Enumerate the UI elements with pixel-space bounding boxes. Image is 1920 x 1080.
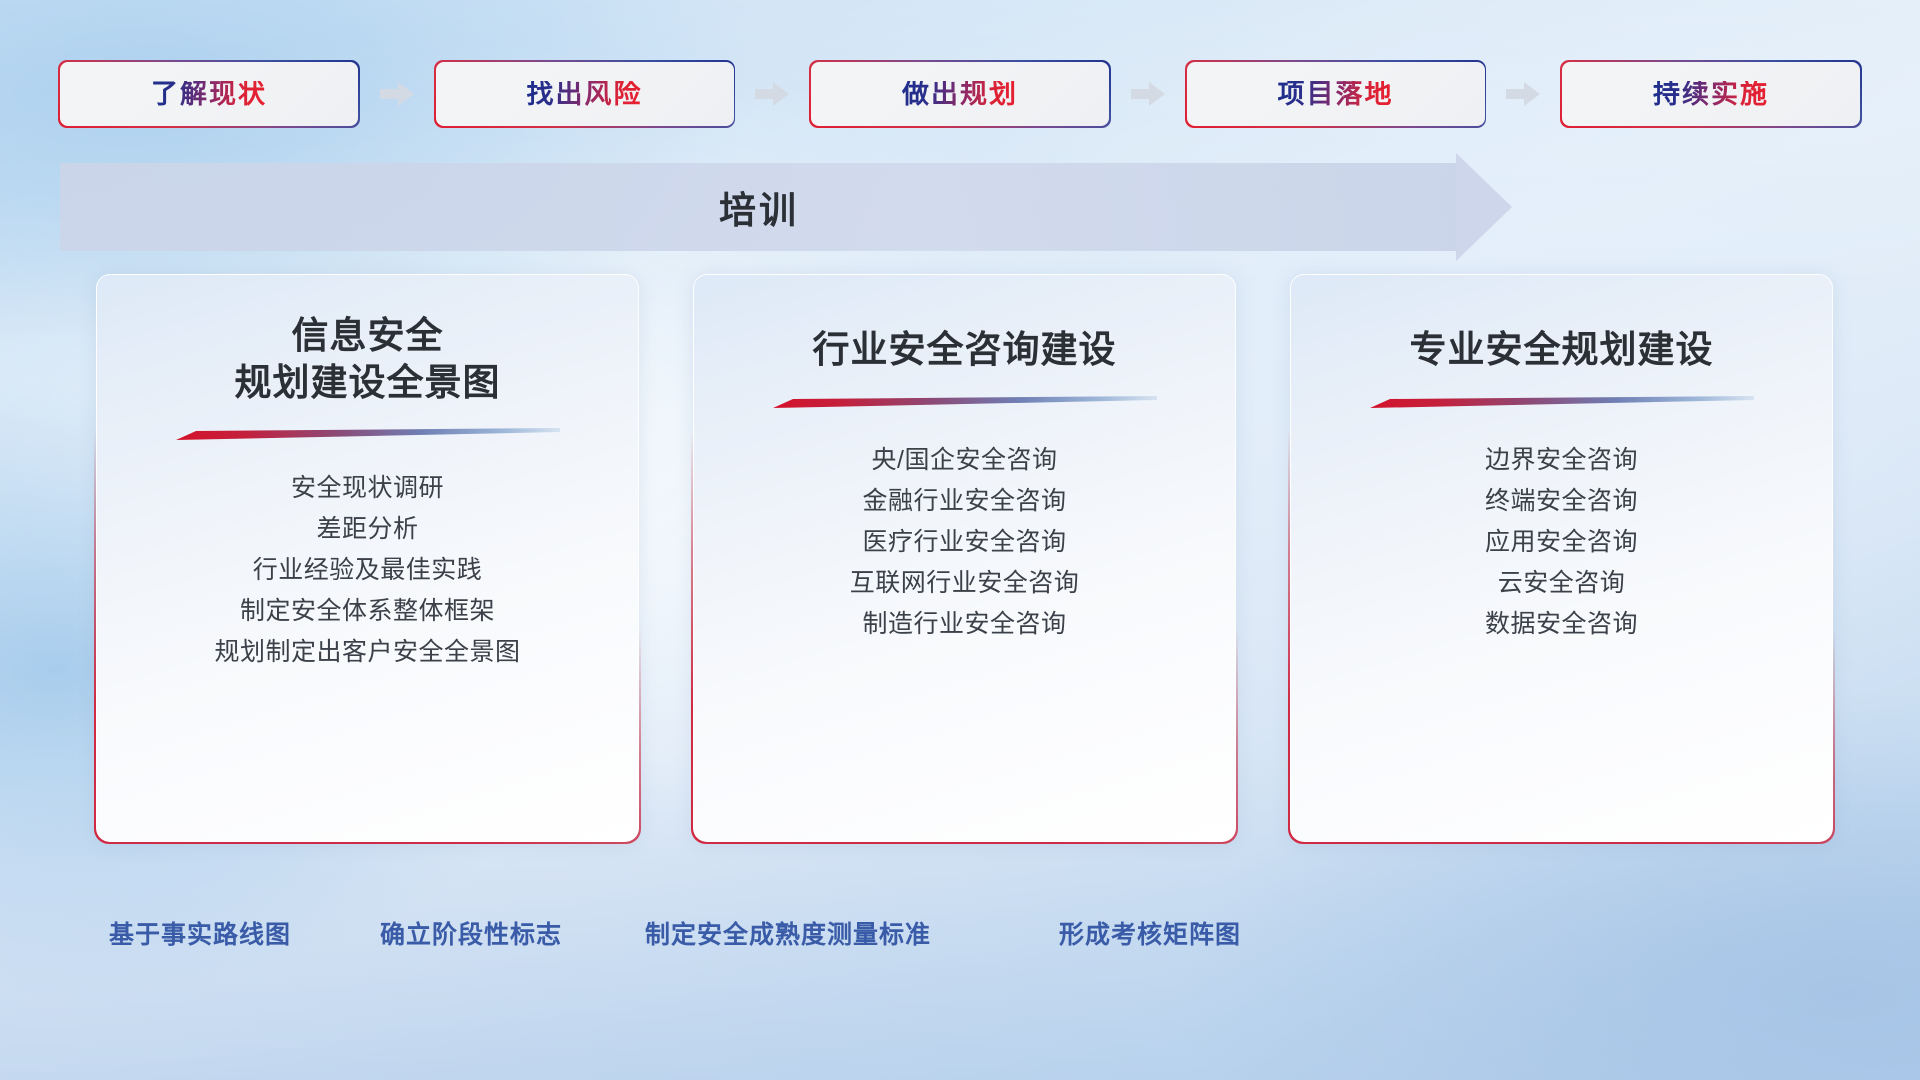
card-list-item: 规划制定出客户安全全景图	[214, 632, 520, 673]
card-title-line: 行业安全咨询建设	[813, 327, 1117, 374]
card-list-item: 应用安全咨询	[1485, 522, 1638, 563]
card-title-divider	[1370, 396, 1754, 410]
card-title-divider	[773, 396, 1157, 410]
card-list-item: 行业经验及最佳实践	[253, 550, 483, 591]
process-step-5[interactable]: 持续实施	[1562, 62, 1860, 126]
capability-cards: 信息安全 规划建设全景图	[96, 274, 1833, 842]
card-list-item: 互联网行业安全咨询	[850, 563, 1080, 604]
card-list-item: 终端安全咨询	[1485, 481, 1638, 522]
card-surface: 专业安全规划建设	[1290, 274, 1833, 842]
card-list-item: 制造行业安全咨询	[862, 604, 1066, 645]
training-band-label: 培训	[60, 163, 1512, 251]
card-title-line: 专业安全规划建设	[1410, 327, 1714, 374]
card-title: 信息安全 规划建设全景图	[235, 313, 501, 406]
process-step-label: 做出规划	[902, 81, 1018, 108]
capability-card-2[interactable]: 行业安全咨询建设	[693, 274, 1236, 842]
card-list-item: 边界安全咨询	[1485, 440, 1638, 481]
process-step-flow: 了解现状 找出风险 做出规划 项目落地 持续实施	[60, 62, 1860, 126]
process-step-label: 持续实施	[1653, 81, 1769, 108]
card-title: 专业安全规划建设	[1410, 327, 1714, 374]
footer-label: 基于事实路线图	[109, 915, 291, 951]
card-list-item: 差距分析	[316, 509, 418, 550]
card-surface: 行业安全咨询建设	[693, 274, 1236, 842]
card-title-line: 规划建设全景图	[235, 360, 501, 407]
chevron-right-icon	[380, 80, 414, 108]
card-item-list: 边界安全咨询 终端安全咨询 应用安全咨询 云安全咨询 数据安全咨询	[1485, 440, 1638, 645]
card-title-divider	[176, 428, 560, 442]
card-title-line: 信息安全	[235, 313, 501, 360]
training-band: 培训	[60, 163, 1512, 251]
capability-card-3[interactable]: 专业安全规划建设	[1290, 274, 1833, 842]
process-step-3[interactable]: 做出规划	[811, 62, 1109, 126]
card-list-item: 央/国企安全咨询	[872, 440, 1058, 481]
card-title: 行业安全咨询建设	[813, 327, 1117, 374]
footer-label: 制定安全成熟度测量标准	[645, 915, 931, 951]
card-surface: 信息安全 规划建设全景图	[96, 274, 639, 842]
process-step-label: 了解现状	[151, 81, 267, 108]
card-list-item: 医疗行业安全咨询	[862, 522, 1066, 563]
footer-label: 形成考核矩阵图	[1059, 915, 1241, 951]
card-item-list: 央/国企安全咨询 金融行业安全咨询 医疗行业安全咨询 互联网行业安全咨询 制造行…	[850, 440, 1080, 645]
card-list-item: 数据安全咨询	[1485, 604, 1638, 645]
footer-label: 确立阶段性标志	[380, 915, 562, 951]
card-item-list: 安全现状调研 差距分析 行业经验及最佳实践 制定安全体系整体框架 规划制定出客户…	[214, 468, 520, 673]
card-list-item: 安全现状调研	[291, 468, 444, 509]
process-step-1[interactable]: 了解现状	[60, 62, 358, 126]
chevron-right-icon	[755, 80, 789, 108]
chevron-right-icon	[1131, 80, 1165, 108]
process-step-label: 项目落地	[1278, 81, 1394, 108]
process-step-label: 找出风险	[527, 81, 643, 108]
capability-card-1[interactable]: 信息安全 规划建设全景图	[96, 274, 639, 842]
footer-labels: 基于事实路线图 确立阶段性标志 制定安全成熟度测量标准 形成考核矩阵图	[0, 915, 1920, 955]
card-list-item: 制定安全体系整体框架	[240, 591, 495, 632]
card-list-item: 金融行业安全咨询	[862, 481, 1066, 522]
chevron-right-icon	[1506, 80, 1540, 108]
process-step-4[interactable]: 项目落地	[1187, 62, 1485, 126]
card-list-item: 云安全咨询	[1498, 563, 1626, 604]
process-step-2[interactable]: 找出风险	[436, 62, 734, 126]
